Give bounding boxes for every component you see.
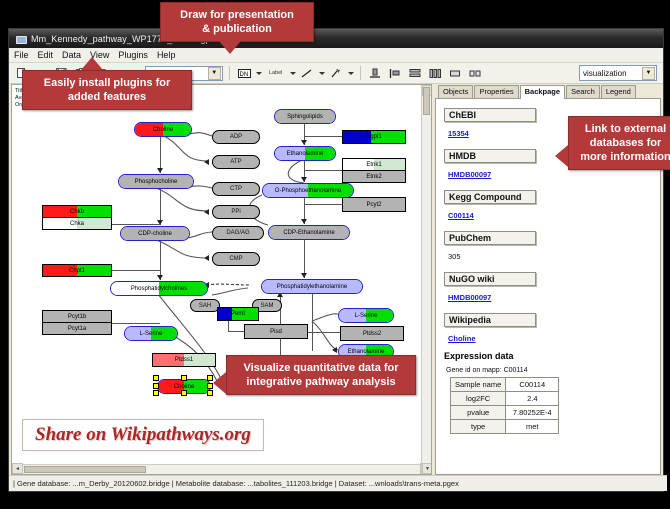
ungroup-icon[interactable]: [467, 65, 484, 82]
callout-visualize-pointer-left: [213, 372, 226, 394]
node-label: Ptdss2: [363, 331, 381, 337]
status-bar: | Gene database: ...m_Derby_20120602.bri…: [9, 475, 667, 491]
node-label: O-Phosphoethanolamine: [275, 188, 341, 194]
db-name-wikipedia: Wikipedia: [444, 313, 536, 327]
metabolite-node-cdp-ethanolamine[interactable]: CDP-Ethanolamine: [268, 225, 350, 240]
vscroll-thumb[interactable]: [423, 87, 430, 115]
node-label: Pcyt2: [366, 202, 381, 208]
cofactor-node[interactable]: ADP: [212, 130, 260, 144]
menu-item-help[interactable]: Help: [157, 50, 176, 60]
gene-connector: [110, 323, 160, 324]
gene-node-pcyt1a[interactable]: Pcyt1a: [43, 323, 111, 334]
flow-arrow: [204, 255, 209, 261]
gene-node-chka[interactable]: Chka: [43, 218, 111, 229]
db-link-nugowiki[interactable]: HMDB00097: [448, 293, 491, 302]
db-block-pubchem: PubChem 305: [444, 228, 660, 264]
metabolite-node-phosphocholine[interactable]: Phosphocholine: [118, 174, 194, 189]
label-tool-text: Label: [269, 70, 282, 76]
callout-draw-line2: & publication: [169, 22, 305, 36]
node-label: Sphingolipids: [287, 114, 323, 120]
table-cell-value: 7.80252E-4: [506, 406, 559, 420]
scroll-left-icon[interactable]: ◄: [12, 463, 23, 474]
workspace: Title: Availa Organi: [9, 82, 663, 475]
gene-node-etnk2[interactable]: Etnk2: [343, 171, 405, 182]
expression-table: Sample name C00114 log2FC 2.4 pvalue 7.8…: [450, 377, 559, 434]
node-label: Phosphatidylcholines: [131, 286, 187, 292]
tab-properties[interactable]: Properties: [474, 85, 518, 98]
node-label: CDP-choline: [138, 231, 172, 237]
datanode-icon[interactable]: DN: [236, 65, 253, 82]
node-label: Ethanolamine: [287, 151, 324, 157]
node-label: Choline: [174, 384, 194, 390]
cofactor-node[interactable]: PPi: [212, 205, 260, 219]
align-bottom-icon[interactable]: [367, 65, 384, 82]
db-block-wikipedia: Wikipedia Choline: [444, 310, 660, 346]
node-label: Phosphocholine: [135, 179, 178, 185]
node-label: Ptdss1: [175, 357, 193, 363]
metabolite-node-l-serine-left[interactable]: L-Serine: [124, 326, 178, 341]
node-label: Etnk1: [366, 162, 381, 168]
resize-handle-nw[interactable]: [153, 375, 159, 381]
db-link-chebi[interactable]: 15354: [448, 129, 469, 138]
menu-item-edit[interactable]: Edit: [38, 50, 54, 60]
tab-objects[interactable]: Objects: [438, 85, 473, 98]
svg-text:DN: DN: [239, 72, 248, 78]
callout-visualize-pointer-right: [400, 372, 413, 394]
db-link-kegg[interactable]: C00114: [448, 211, 474, 220]
tab-legend[interactable]: Legend: [601, 85, 636, 98]
table-row: type met: [451, 420, 559, 434]
table-cell-value: met: [506, 420, 559, 434]
gene-group-chk[interactable]: Chkb Chka: [42, 205, 112, 230]
node-label: Pisd: [270, 329, 282, 335]
label-dropdown-icon[interactable]: [290, 72, 296, 75]
flow-line: [304, 238, 305, 278]
gene-group-etnk[interactable]: Etnk1 Etnk2: [342, 158, 406, 183]
metabolite-node-phosphatidylethanolamine[interactable]: Phosphatidylethanolamine: [261, 279, 363, 294]
gene-node-chpt1[interactable]: Chpt1: [43, 265, 111, 276]
callout-plugins: Easily install plugins for added feature…: [22, 70, 192, 110]
group-icon[interactable]: [447, 65, 464, 82]
callout-visualize-line2: integrative pathway analysis: [235, 375, 407, 389]
gene-node-pcyt1b[interactable]: Pcyt1b: [43, 311, 111, 323]
chevron-down-icon[interactable]: ▼: [208, 67, 221, 80]
flow-line: [160, 239, 161, 280]
flow-arrow: [301, 273, 307, 278]
status-text: | Gene database: ...m_Derby_20120602.bri…: [13, 479, 459, 488]
canvas-hscrollbar[interactable]: ◄ ►: [12, 464, 431, 474]
gene-node-ptdss1[interactable]: Ptdss1: [152, 353, 216, 367]
gene-connector: [304, 136, 344, 137]
flow-arrow: [301, 177, 307, 182]
toolbar-separator: [229, 66, 230, 80]
callout-draw-line1: Draw for presentation: [169, 8, 305, 22]
callout-links-line2: databases for: [577, 136, 670, 150]
align-left-icon[interactable]: [387, 65, 404, 82]
line-dropdown-icon[interactable]: [319, 72, 325, 75]
callout-visualize: Visualize quantitative data for integrat…: [226, 355, 416, 395]
metabolite-node-cdp-choline[interactable]: CDP-choline: [120, 226, 190, 241]
callout-links-line1: Link to external: [577, 122, 670, 136]
callout-draw-pointer: [219, 41, 241, 54]
flow-arrow: [204, 209, 209, 215]
callout-plugins-pointer: [81, 57, 103, 70]
metabolite-node-o-phosphoethanolamine[interactable]: O-Phosphoethanolamine: [262, 183, 354, 198]
resize-handle-s[interactable]: [181, 390, 187, 396]
distribute-icon[interactable]: [427, 65, 444, 82]
hscroll-thumb[interactable]: [24, 466, 146, 473]
callout-links-pointer: [555, 145, 568, 167]
table-row: log2FC 2.4: [451, 392, 559, 406]
flow-line: [306, 332, 340, 333]
node-label: L-Serine: [140, 331, 163, 337]
pathway-drawing: Title: Availa Organi: [12, 85, 431, 475]
flow-arrow: [301, 140, 307, 145]
node-label: Phosphatidylethanolamine: [277, 284, 347, 290]
db-name-kegg: Kegg Compound: [444, 190, 536, 204]
gene-node-etnk1[interactable]: Etnk1: [343, 159, 405, 171]
node-label: CDP-Ethanolamine: [283, 230, 334, 236]
table-cell-key: log2FC: [451, 392, 506, 406]
callout-draw: Draw for presentation & publication: [160, 2, 314, 42]
db-link-hmdb[interactable]: HMDB00097: [448, 170, 491, 179]
node-label: Choline: [153, 127, 173, 133]
node-label: Ethanolamine: [348, 349, 385, 355]
window-titlebar: Mm_Kennedy_pathway_WP1771_45176.gpml: [9, 29, 663, 48]
db-name-nugowiki: NuGO wiki: [444, 272, 536, 286]
gene-node-chkb[interactable]: Chkb: [43, 206, 111, 218]
table-cell-key: type: [451, 420, 506, 434]
gene-node-pcyt2[interactable]: Pcyt2: [342, 197, 406, 212]
db-name-hmdb: HMDB: [444, 149, 536, 163]
resize-handle-n[interactable]: [181, 375, 187, 381]
callout-links-line3: more information: [577, 150, 670, 164]
menu-item-file[interactable]: File: [14, 50, 29, 60]
gene-connector: [304, 170, 344, 171]
interaction-dropdown-icon[interactable]: [348, 72, 354, 75]
visualization-value: visualization: [583, 69, 627, 78]
callout-visualize-line1: Visualize quantitative data for: [235, 361, 407, 375]
callout-links: Link to external databases for more info…: [568, 116, 670, 170]
metabolite-node-ethanolamine[interactable]: Ethanolamine: [274, 146, 336, 161]
table-cell-value: 2.4: [506, 392, 559, 406]
gene-group-chpt1[interactable]: Chpt1: [42, 264, 112, 277]
line-tool-icon[interactable]: [299, 65, 316, 82]
share-banner: Share on Wikipathways.org: [22, 419, 264, 451]
resize-handle-w[interactable]: [153, 383, 159, 389]
node-label: Pcyt1b: [68, 314, 86, 320]
flow-arrow: [301, 219, 307, 224]
metabolite-node-phosphatidylcholines[interactable]: Phosphatidylcholines: [110, 281, 208, 296]
table-cell-key: Sample name: [451, 378, 506, 392]
node-label: L-Serine: [355, 313, 378, 319]
node-label: Pcyt1a: [68, 326, 86, 332]
gene-connector: [304, 204, 344, 205]
node-label: Chkb: [70, 209, 84, 215]
menu-item-plugins[interactable]: Plugins: [118, 50, 148, 60]
callout-plugins-line2: added features: [31, 90, 183, 104]
node-label: Pemt: [231, 311, 245, 317]
node-label: Sgpl1: [366, 134, 381, 140]
menu-bar: File Edit Data View Plugins Help: [9, 48, 663, 63]
menu-item-data[interactable]: Data: [62, 50, 81, 60]
flow-arrow: [204, 159, 209, 165]
tab-backpage[interactable]: Backpage: [520, 85, 565, 99]
canvas-vscrollbar[interactable]: ▲ ▼: [421, 85, 431, 474]
metabolite-node-sphingolipids[interactable]: Sphingolipids: [274, 109, 336, 124]
node-label: Chpt1: [69, 268, 85, 274]
flow-line: [312, 293, 313, 351]
screenshot-root: Mm_Kennedy_pathway_WP1771_45176.gpml Fil…: [0, 0, 670, 509]
metabolite-node-choline[interactable]: Choline: [134, 122, 192, 137]
db-value-pubchem: 305: [448, 252, 461, 261]
node-label: Etnk2: [366, 174, 381, 180]
db-name-pubchem: PubChem: [444, 231, 536, 245]
label-tool-icon[interactable]: Label: [265, 65, 287, 82]
visualization-combo[interactable]: visualization ▼: [579, 65, 657, 81]
gene-node-sgpl1[interactable]: Sgpl1: [342, 130, 406, 144]
flow-arrow: [157, 168, 163, 173]
db-block-kegg: Kegg Compound C00114: [444, 187, 660, 223]
side-panel-tabs: Objects Properties Backpage Search Legen…: [435, 84, 661, 99]
tab-search[interactable]: Search: [566, 85, 600, 98]
gene-node-ptdss2[interactable]: Ptdss2: [340, 326, 404, 341]
datanode-dropdown-icon[interactable]: [256, 72, 262, 75]
app-icon: [15, 33, 26, 44]
db-name-chebi: ChEBI: [444, 108, 536, 122]
cofactor-node[interactable]: CMP: [212, 252, 260, 266]
gene-connector: [110, 270, 160, 271]
resize-handle-sw[interactable]: [153, 390, 159, 396]
visualization-chevron-icon[interactable]: ▼: [642, 67, 655, 80]
db-block-nugowiki: NuGO wiki HMDB00097: [444, 269, 660, 305]
metabolite-node-l-serine-right[interactable]: L-Serine: [338, 308, 394, 323]
stack-icon[interactable]: [407, 65, 424, 82]
expression-data-header: Expression data: [444, 351, 660, 361]
table-row: Sample name C00114: [451, 378, 559, 392]
cofactor-node[interactable]: CTP: [212, 182, 260, 196]
toolbar-separator-2: [360, 66, 361, 80]
gene-node-pemt[interactable]: Pemt: [217, 307, 259, 321]
db-link-wikipedia[interactable]: Choline: [448, 334, 476, 343]
callout-plugins-line1: Easily install plugins for: [31, 76, 183, 90]
cofactor-node[interactable]: SAH: [190, 299, 220, 312]
flow-arrow: [332, 347, 337, 353]
table-cell-key: pvalue: [451, 406, 506, 420]
interaction-tool-icon[interactable]: [328, 65, 345, 82]
cofactor-node[interactable]: DAG/AG: [212, 226, 264, 240]
node-label: Chka: [70, 221, 84, 227]
gene-node-pisd[interactable]: Pisd: [244, 324, 308, 339]
table-row: pvalue 7.80252E-4: [451, 406, 559, 420]
pathway-canvas[interactable]: Title: Availa Organi: [11, 84, 432, 475]
flow-arrow: [157, 275, 163, 280]
cofactor-node[interactable]: ATP: [212, 155, 260, 169]
scroll-down-icon[interactable]: ▼: [422, 463, 432, 474]
gene-id-on-mapp: Gene id on mapp: C00114: [446, 367, 660, 374]
gene-group-pcyt1[interactable]: Pcyt1b Pcyt1a: [42, 310, 112, 335]
table-cell-value: C00114: [506, 378, 559, 392]
